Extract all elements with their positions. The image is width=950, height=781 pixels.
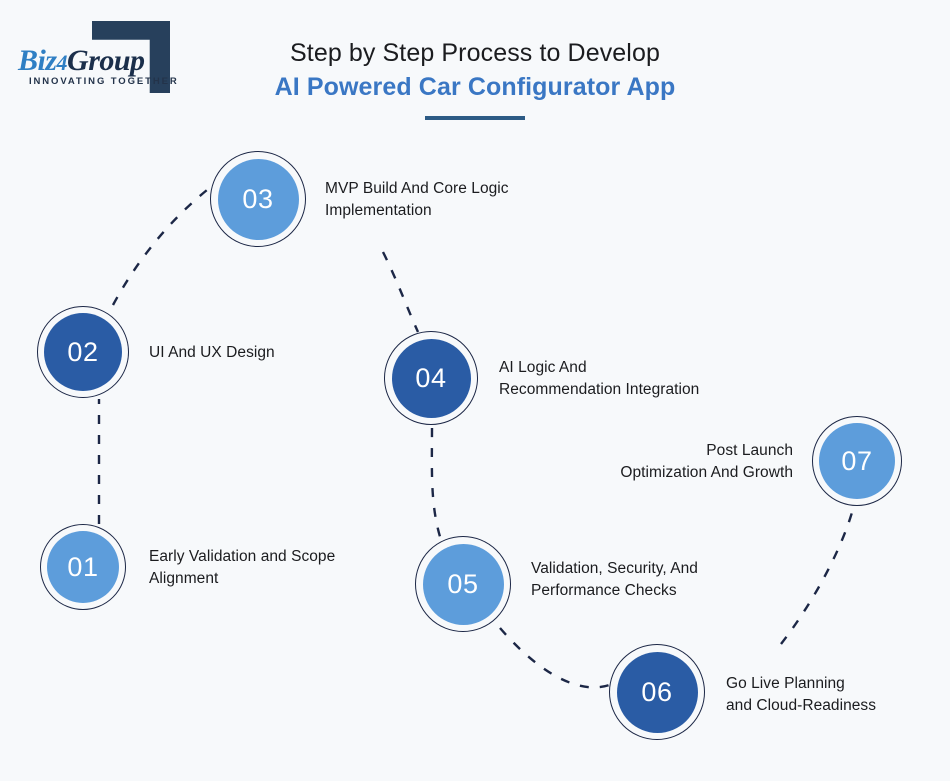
step-01-number: 01 (47, 531, 119, 603)
step-05-number: 05 (423, 544, 504, 625)
step-05-node[interactable]: 05 (415, 536, 511, 632)
step-03-label: MVP Build And Core Logic Implementation (325, 178, 595, 222)
step-02-label: UI And UX Design (149, 342, 399, 364)
step-03-node[interactable]: 03 (210, 151, 306, 247)
step-06-node[interactable]: 06 (609, 644, 705, 740)
step-07-label: Post Launch Optimization And Growth (528, 440, 793, 484)
step-02-node[interactable]: 02 (37, 306, 129, 398)
step-01-node[interactable]: 01 (40, 524, 126, 610)
step-03-number: 03 (218, 159, 299, 240)
step-02-number: 02 (44, 313, 122, 391)
connector-05-06 (500, 628, 612, 687)
step-06-number: 06 (617, 652, 698, 733)
step-07-node[interactable]: 07 (812, 416, 902, 506)
step-04-label: AI Logic And Recommendation Integration (499, 357, 789, 401)
step-01-label: Early Validation and Scope Alignment (149, 546, 399, 590)
infographic-canvas: Biz4Group INNOVATING TOGETHER Step by St… (0, 0, 950, 781)
step-04-number: 04 (392, 339, 471, 418)
step-05-label: Validation, Security, And Performance Ch… (531, 558, 801, 602)
connector-04-05 (432, 428, 441, 540)
connector-02-03 (113, 186, 212, 305)
step-07-number: 07 (819, 423, 895, 499)
connector-03-04 (383, 252, 418, 332)
step-06-label: Go Live Planning and Cloud-Readiness (726, 673, 950, 717)
step-04-node[interactable]: 04 (384, 331, 478, 425)
